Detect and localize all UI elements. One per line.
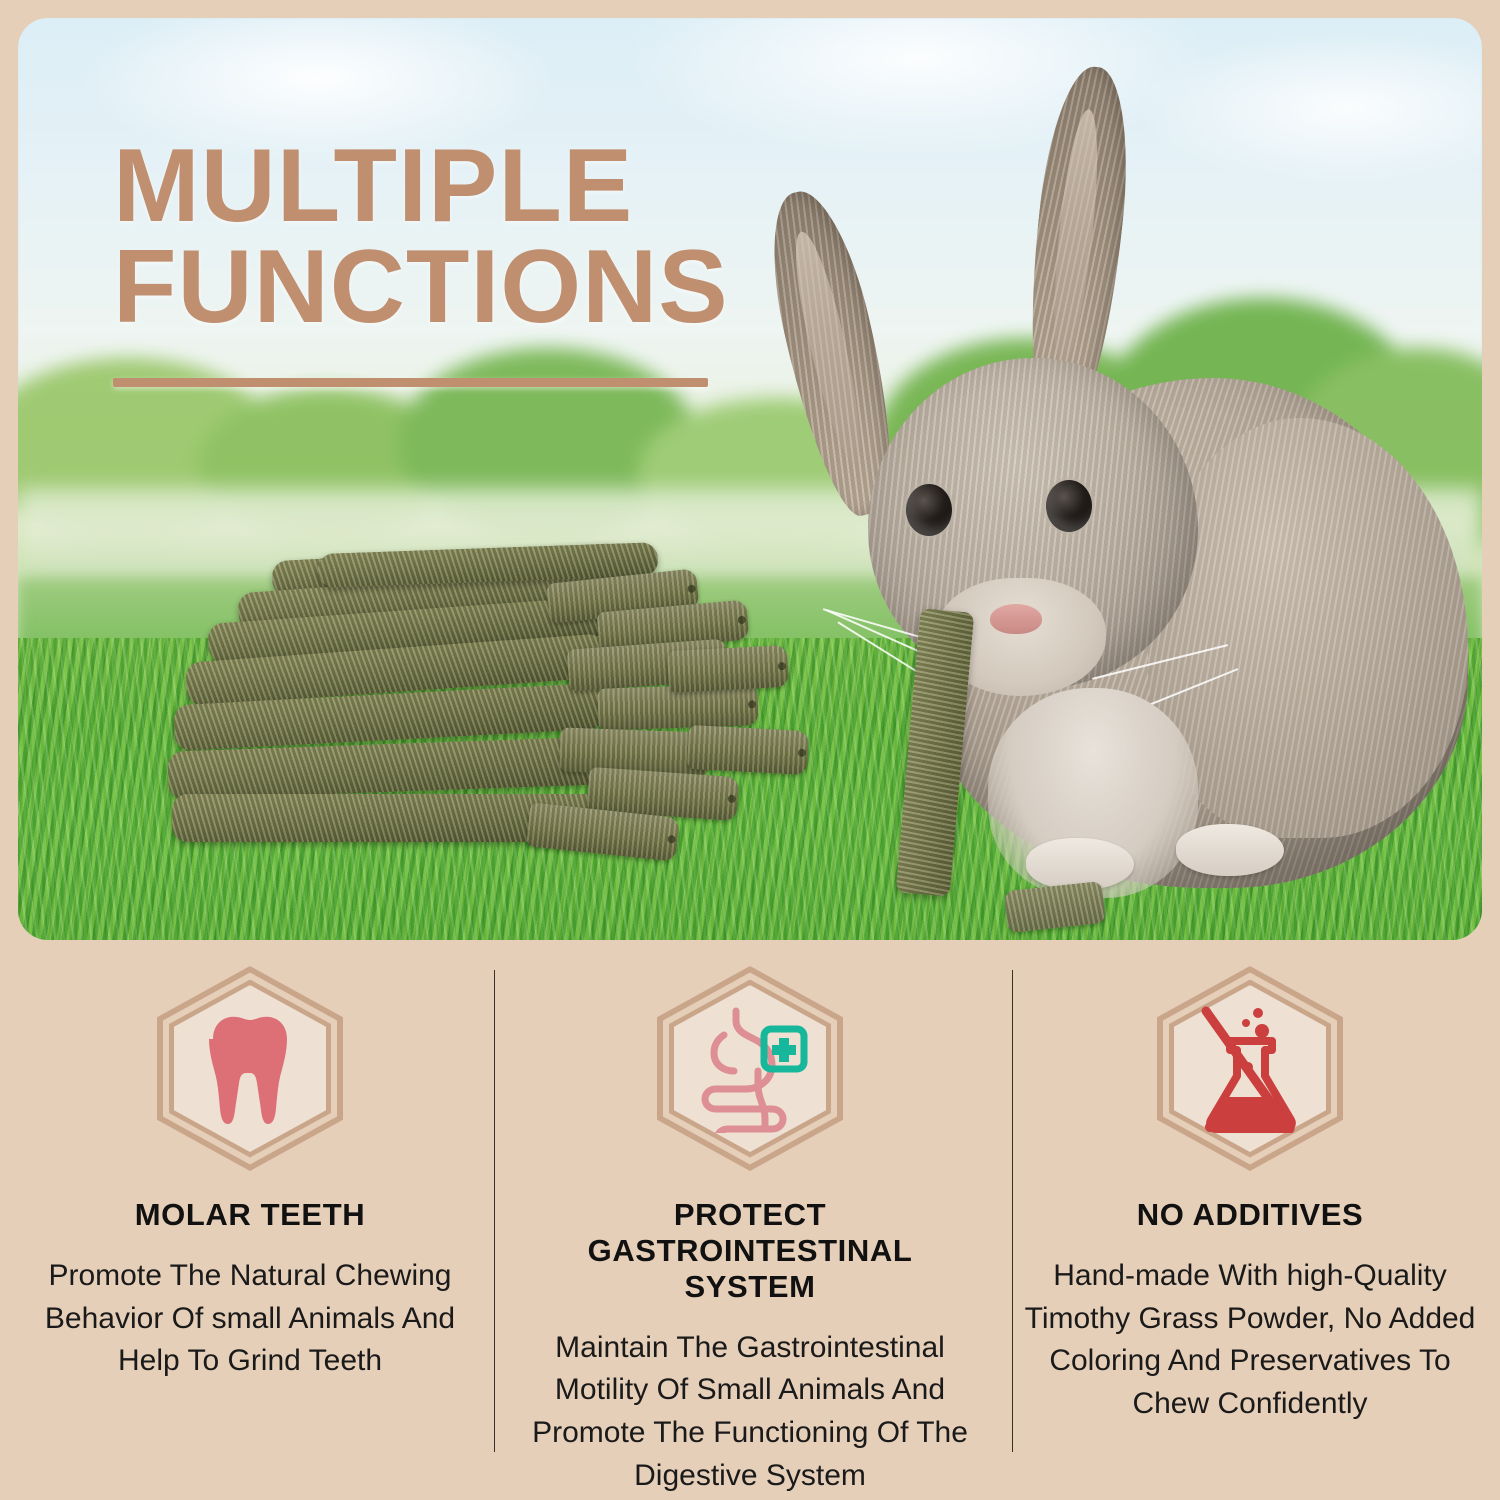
loose-hay-stick: [1004, 881, 1106, 933]
feature-column-molar-teeth: MOLAR TEETH Promote The Natural Chewing …: [0, 942, 500, 1500]
infographic-page: MULTIPLE FUNCTIONS: [0, 0, 1500, 1500]
feature-columns: MOLAR TEETH Promote The Natural Chewing …: [0, 942, 1500, 1500]
feature-title: PROTECT GASTROINTESTINAL SYSTEM: [522, 1197, 978, 1305]
feature-column-gastrointestinal: PROTECT GASTROINTESTINAL SYSTEM Maintain…: [500, 942, 1000, 1500]
feature-description: Maintain The Gastrointestinal Motility O…: [522, 1327, 978, 1497]
feature-title: NO ADDITIVES: [1137, 1197, 1364, 1233]
rabbit-right-eye: [1046, 480, 1092, 532]
stomach-intestine-icon: [688, 1005, 812, 1133]
feature-description: Promote The Natural Chewing Behavior Of …: [22, 1255, 478, 1383]
hero-photo: MULTIPLE FUNCTIONS: [18, 18, 1482, 940]
rabbit-left-eye: [906, 484, 952, 536]
feature-description: Hand-made With high-Quality Timothy Gras…: [1022, 1255, 1478, 1425]
hay-stick-pile: [168, 548, 808, 918]
rabbit-nose: [990, 604, 1042, 634]
title-line-1: MULTIPLE: [113, 128, 633, 244]
title-underline: [113, 378, 708, 387]
tooth-icon: [195, 1009, 305, 1129]
rabbit-illustration: [758, 48, 1478, 938]
no-chemicals-flask-icon: [1190, 1005, 1310, 1133]
page-title: MULTIPLE FUNCTIONS: [113, 136, 763, 338]
rabbit-front-paw-right: [1176, 824, 1284, 876]
feature-badge: [1157, 966, 1343, 1171]
title-line-2: FUNCTIONS: [113, 237, 763, 338]
feature-title: MOLAR TEETH: [135, 1197, 365, 1233]
feature-column-no-additives: NO ADDITIVES Hand-made With high-Quality…: [1000, 942, 1500, 1500]
feature-badge: [657, 966, 843, 1171]
feature-badge: [157, 966, 343, 1171]
